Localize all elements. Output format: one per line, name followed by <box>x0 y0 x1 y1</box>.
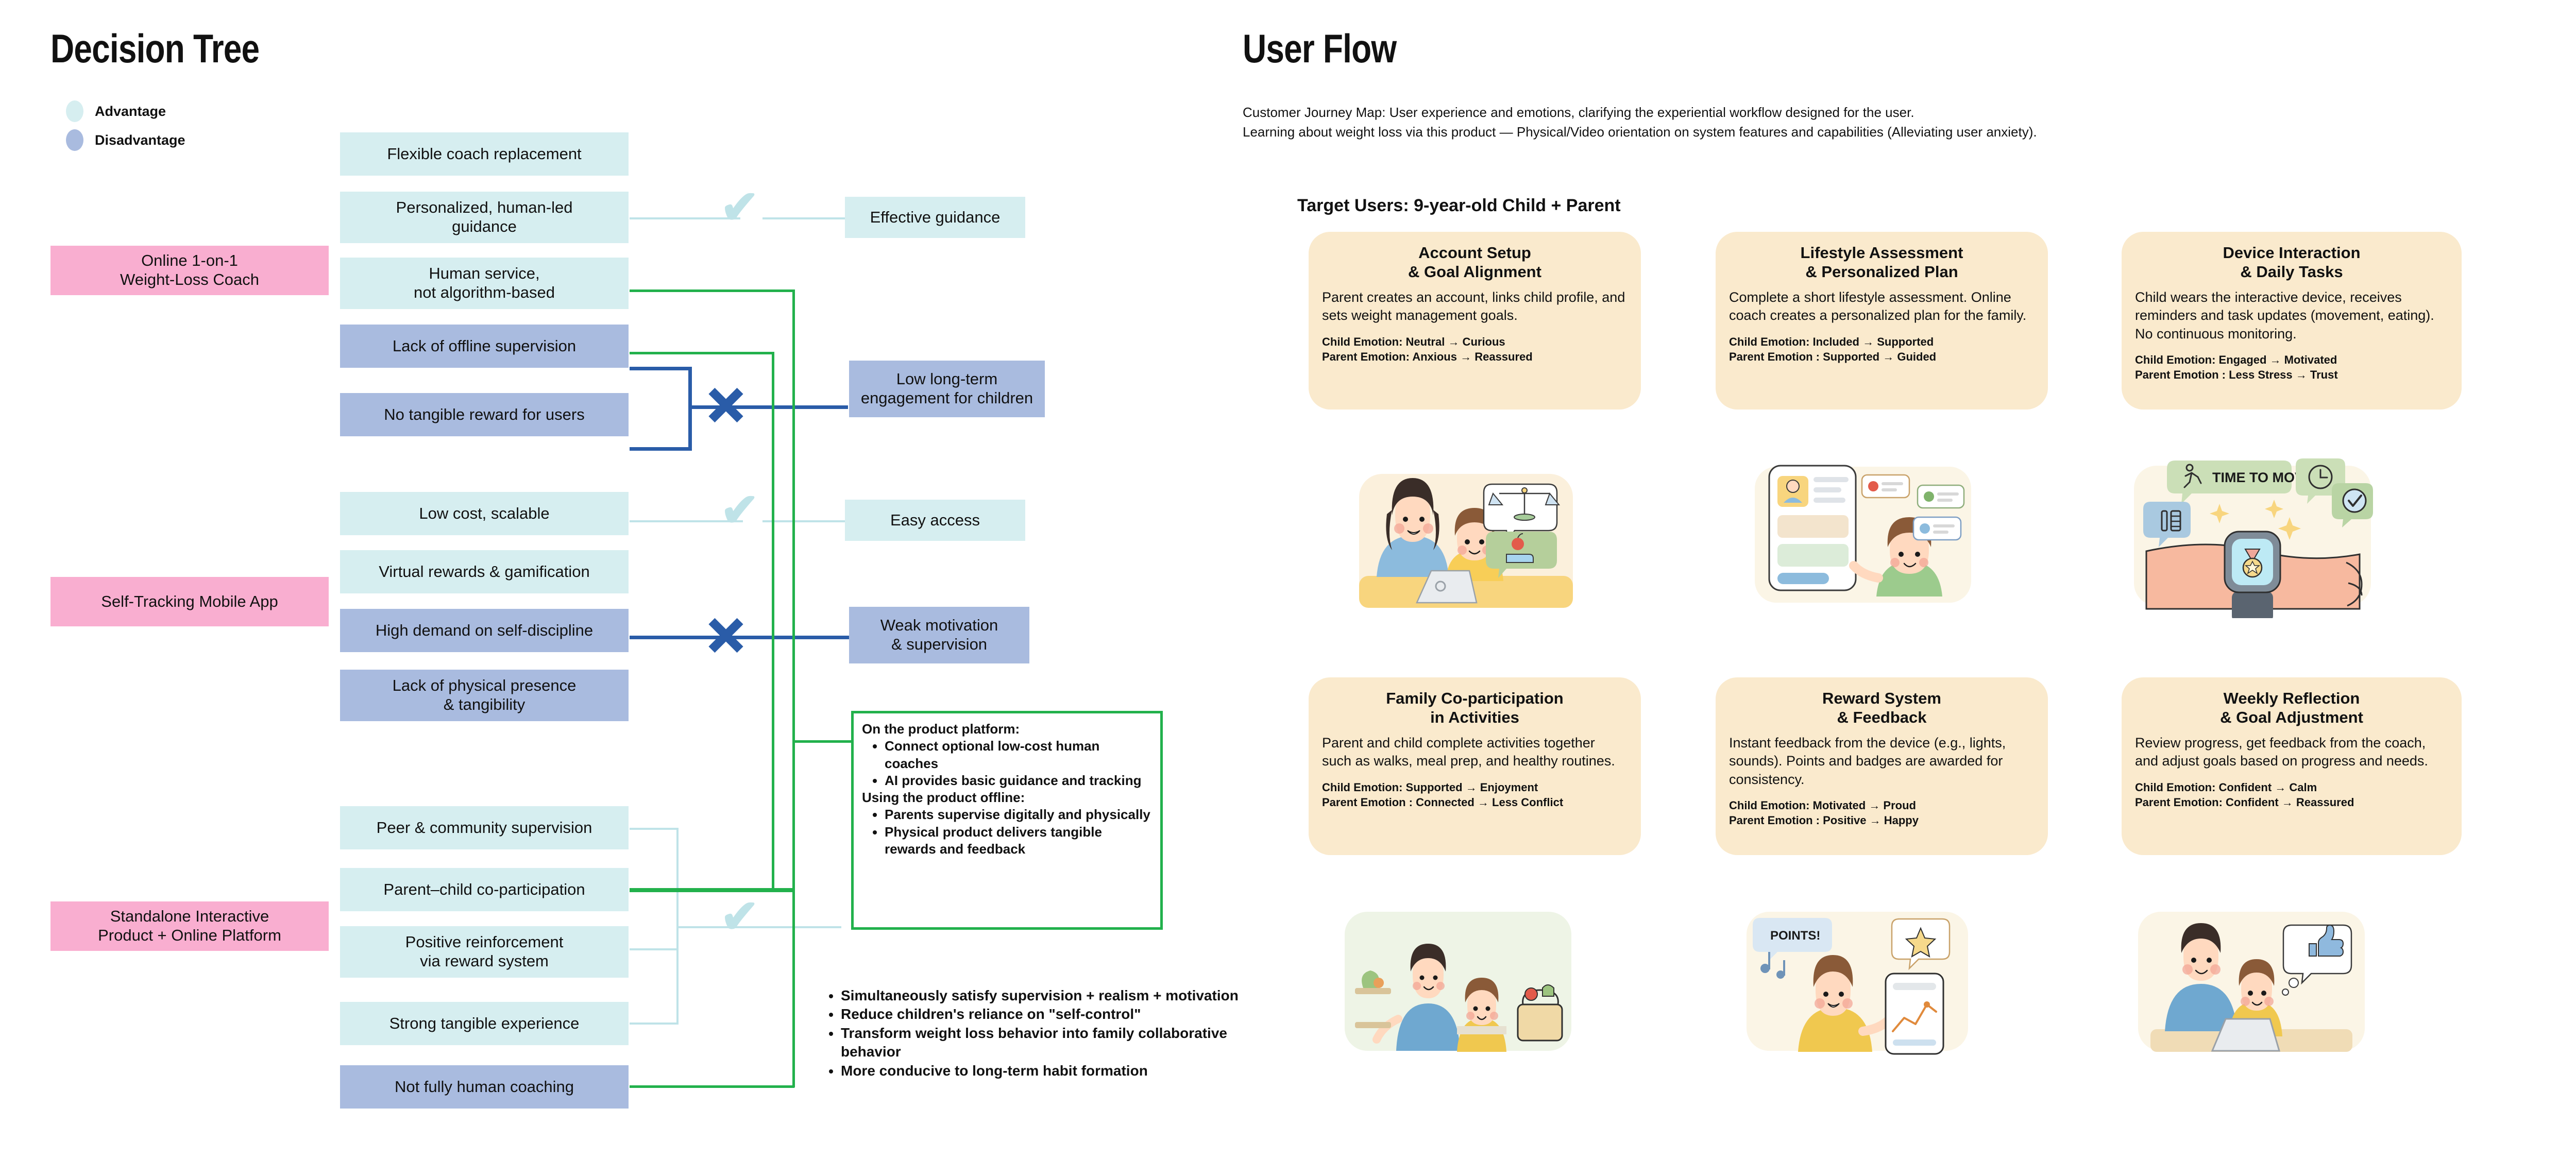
journey-card-title: Account Setup & Goal Alignment <box>1322 243 1628 281</box>
tree-root-node[interactable]: Self-Tracking Mobile App <box>50 577 329 626</box>
illustration-points-label: POINTS! <box>1770 929 1820 943</box>
connector-cyan <box>762 217 845 219</box>
connector-cyan <box>762 520 845 522</box>
tree-root-node[interactable]: Standalone Interactive Product + Online … <box>50 901 329 951</box>
solution-bullets-2: Parents supervise digitally and physical… <box>867 806 1152 858</box>
illustration-family-coparticipation <box>1334 896 1582 1066</box>
outcome-list: Simultaneously satisfy supervision + rea… <box>822 986 1255 1080</box>
check-mark-icon: ✔ <box>720 184 759 231</box>
decision-tree-title: Decision Tree <box>50 28 259 69</box>
solution-heading-2: Using the product offline: <box>862 789 1152 806</box>
journey-card-emotions: Child Emotion: Engaged → Motivated Paren… <box>2135 352 2448 383</box>
verdict-node[interactable]: Low long-term engagement for children <box>849 361 1045 417</box>
check-mark-icon: ✔ <box>720 894 759 940</box>
journey-card[interactable]: Weekly Reflection & Goal Adjustment Revi… <box>2122 677 2462 855</box>
legend-item-advantage: Advantage <box>66 100 185 122</box>
solution-heading-1: On the product platform: <box>862 721 1152 738</box>
tree-node[interactable]: Positive reinforcement via reward system <box>340 926 629 978</box>
tree-node[interactable]: Not fully human coaching <box>340 1065 629 1109</box>
illustration-weekly-reflection <box>2128 896 2375 1066</box>
connector-green <box>792 740 854 743</box>
connector-blue <box>630 447 691 451</box>
solution-bullet: Connect optional low-cost human coaches <box>885 738 1152 772</box>
illustration-account-setup <box>1345 453 1587 623</box>
tree-root-label: Online 1-on-1 Weight-Loss Coach <box>120 251 259 289</box>
tree-node[interactable]: Lack of physical presence & tangibility <box>340 670 629 721</box>
child-emotion: Child Emotion: Included → Supported <box>1729 334 2035 350</box>
solution-bullet: Parents supervise digitally and physical… <box>885 806 1152 823</box>
tree-node[interactable]: High demand on self-discipline <box>340 609 629 652</box>
user-flow-title: User Flow <box>1243 28 1396 69</box>
connector-cyan <box>630 1022 679 1025</box>
journey-card-body: Review progress, get feedback from the c… <box>2135 734 2448 770</box>
tree-node-label: Flexible coach replacement <box>387 145 581 164</box>
connector-blue <box>630 367 691 370</box>
verdict-node[interactable]: Effective guidance <box>845 197 1025 238</box>
tree-node[interactable]: Parent–child co-participation <box>340 868 629 911</box>
solution-bullet: Physical product delivers tangible rewar… <box>885 824 1152 858</box>
journey-card-body: Parent and child complete activities tog… <box>1322 734 1628 770</box>
solution-bullets-1: Connect optional low-cost human coaches … <box>867 738 1152 789</box>
illustration-lifestyle-assessment <box>1747 448 1984 623</box>
outcome-item: Transform weight loss behavior into fami… <box>841 1024 1255 1062</box>
journey-card-emotions: Child Emotion: Supported → Enjoyment Par… <box>1322 780 1628 810</box>
tree-node[interactable]: No tangible reward for users <box>340 393 629 436</box>
tree-node[interactable]: Strong tangible experience <box>340 1002 629 1045</box>
child-emotion: Child Emotion: Confident → Calm <box>2135 780 2448 795</box>
verdict-node[interactable]: Easy access <box>845 500 1025 541</box>
child-emotion: Child Emotion: Neutral → Curious <box>1322 334 1628 350</box>
journey-card-title: Family Co-participation in Activities <box>1322 689 1628 727</box>
decision-tree-legend: Advantage Disadvantage <box>66 100 185 158</box>
child-emotion: Child Emotion: Motivated → Proud <box>1729 798 2035 813</box>
journey-card[interactable]: Lifestyle Assessment & Personalized Plan… <box>1716 232 2048 410</box>
user-flow-subtitle: Customer Journey Map: User experience an… <box>1243 103 2505 142</box>
disadvantage-swatch-icon <box>66 129 83 151</box>
tree-node[interactable]: Human service, not algorithm-based <box>340 258 629 309</box>
connector-green <box>630 352 774 354</box>
tree-node[interactable]: Flexible coach replacement <box>340 132 629 176</box>
connector-green <box>792 740 795 1087</box>
connector-green <box>630 289 794 292</box>
journey-card[interactable]: Family Co-participation in Activities Pa… <box>1309 677 1641 855</box>
journey-card-emotions: Child Emotion: Included → Supported Pare… <box>1729 334 2035 365</box>
child-emotion: Child Emotion: Engaged → Motivated <box>2135 352 2448 368</box>
verdict-node[interactable]: Weak motivation & supervision <box>849 607 1029 663</box>
connector-cyan <box>676 948 679 1024</box>
tree-root-node[interactable]: Online 1-on-1 Weight-Loss Coach <box>50 246 329 295</box>
connector-green <box>630 888 792 891</box>
journey-card-body: Complete a short lifestyle assessment. O… <box>1729 288 2035 325</box>
tree-node-label: Strong tangible experience <box>389 1014 580 1033</box>
connector-cyan <box>630 828 679 830</box>
journey-card-emotions: Child Emotion: Motivated → Proud Parent … <box>1729 798 2035 828</box>
verdict-label: Low long-term engagement for children <box>861 370 1033 407</box>
journey-card-body: Parent creates an account, links child p… <box>1322 288 1628 325</box>
verdict-label: Effective guidance <box>870 208 1001 227</box>
tree-node-label: Parent–child co-participation <box>383 880 585 899</box>
verdict-label: Weak motivation & supervision <box>880 616 998 654</box>
journey-card-title: Device Interaction & Daily Tasks <box>2135 243 2448 281</box>
journey-card[interactable]: Device Interaction & Daily Tasks Child w… <box>2122 232 2462 410</box>
target-users-label: Target Users: 9-year-old Child + Parent <box>1297 196 1621 216</box>
parent-emotion: Parent Emotion: Confident → Reassured <box>2135 795 2448 810</box>
legend-label-advantage: Advantage <box>95 104 166 120</box>
tree-node-label: Lack of physical presence & tangibility <box>393 676 577 714</box>
journey-card-body: Child wears the interactive device, rece… <box>2135 288 2448 343</box>
tree-node-label: Not fully human coaching <box>395 1078 574 1097</box>
tree-node-label: High demand on self-discipline <box>376 621 593 640</box>
tree-node-label: No tangible reward for users <box>384 405 584 424</box>
tree-node-label: Human service, not algorithm-based <box>414 264 555 302</box>
check-mark-icon: ✔ <box>720 487 759 534</box>
tree-node-label: Peer & community supervision <box>377 819 592 838</box>
child-emotion: Child Emotion: Supported → Enjoyment <box>1322 780 1628 795</box>
tree-root-label: Self-Tracking Mobile App <box>101 592 278 611</box>
tree-node-label: Lack of offline supervision <box>393 337 576 356</box>
legend-label-disadvantage: Disadvantage <box>95 132 185 148</box>
connector-cyan <box>630 948 679 950</box>
tree-root-label: Standalone Interactive Product + Online … <box>98 907 281 945</box>
journey-card[interactable]: Account Setup & Goal Alignment Parent cr… <box>1309 232 1641 410</box>
parent-emotion: Parent Emotion : Connected → Less Confli… <box>1322 795 1628 810</box>
user-flow-subtitle-line-2: Learning about weight loss via this prod… <box>1243 123 2505 142</box>
tree-node-label: Virtual rewards & gamification <box>379 563 590 582</box>
cross-mark-icon <box>706 616 746 656</box>
advantage-swatch-icon <box>66 100 83 122</box>
tree-node[interactable]: Personalized, human-led guidance <box>340 192 629 243</box>
outcome-item: Simultaneously satisfy supervision + rea… <box>841 986 1255 1005</box>
legend-item-disadvantage: Disadvantage <box>66 129 185 151</box>
outcome-item: More conducive to long-term habit format… <box>841 1062 1255 1080</box>
tree-node[interactable]: Peer & community supervision <box>340 806 629 849</box>
journey-card-emotions: Child Emotion: Confident → Calm Parent E… <box>2135 780 2448 810</box>
parent-emotion: Parent Emotion : Positive → Happy <box>1729 813 2035 828</box>
journey-card-title: Weekly Reflection & Goal Adjustment <box>2135 689 2448 727</box>
verdict-label: Easy access <box>890 511 980 530</box>
tree-node[interactable]: Lack of offline supervision <box>340 325 629 368</box>
parent-emotion: Parent Emotion : Less Stress → Trust <box>2135 367 2448 383</box>
illustration-reward-system: POINTS! <box>1736 896 1978 1066</box>
solution-box[interactable]: On the product platform: Connect optiona… <box>851 711 1163 930</box>
parent-emotion: Parent Emotion: Anxious → Reassured <box>1322 349 1628 365</box>
tree-node-label: Positive reinforcement via reward system <box>405 933 564 970</box>
parent-emotion: Parent Emotion : Supported → Guided <box>1729 349 2035 365</box>
tree-node-label: Personalized, human-led guidance <box>396 198 573 236</box>
solution-bullet: AI provides basic guidance and tracking <box>885 772 1152 789</box>
journey-card-title: Reward System & Feedback <box>1729 689 2035 727</box>
connector-green <box>772 352 774 890</box>
tree-node[interactable]: Virtual rewards & gamification <box>340 550 629 593</box>
journey-card-emotions: Child Emotion: Neutral → Curious Parent … <box>1322 334 1628 365</box>
tree-node[interactable]: Low cost, scalable <box>340 492 629 535</box>
journey-card[interactable]: Reward System & Feedback Instant feedbac… <box>1716 677 2048 855</box>
illustration-device-interaction: TIME TO MOVE! <box>2124 453 2381 618</box>
outcome-item: Reduce children's reliance on "self-cont… <box>841 1005 1255 1024</box>
tree-node-label: Low cost, scalable <box>419 504 549 523</box>
user-flow-subtitle-line-1: Customer Journey Map: User experience an… <box>1243 103 2505 123</box>
journey-card-body: Instant feedback from the device (e.g., … <box>1729 734 2035 788</box>
connector-green <box>630 1085 794 1088</box>
journey-card-title: Lifestyle Assessment & Personalized Plan <box>1729 243 2035 281</box>
cross-mark-icon <box>706 385 746 425</box>
